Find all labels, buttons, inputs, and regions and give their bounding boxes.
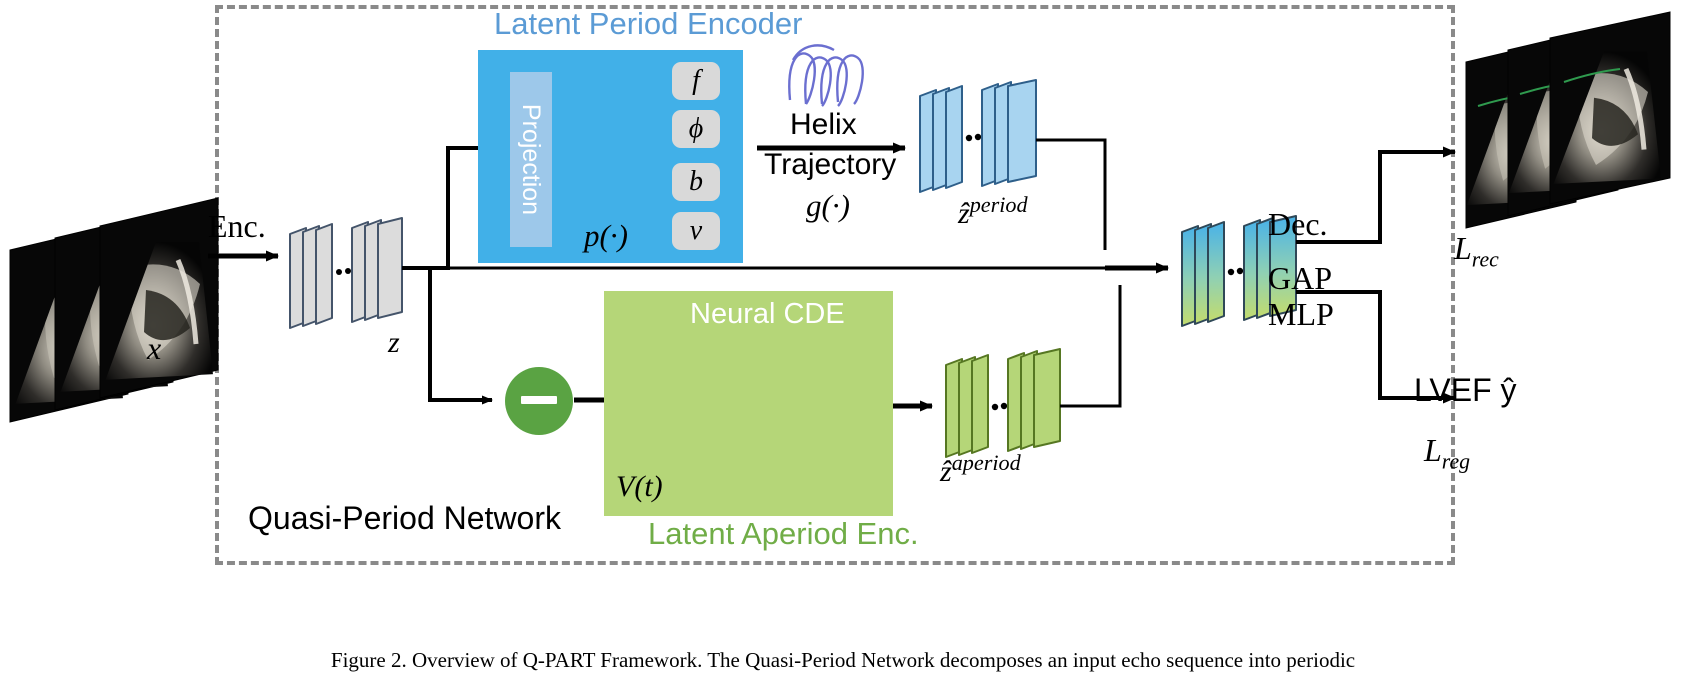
decoder-label: Dec. bbox=[1268, 206, 1328, 243]
mlp-label: MLP bbox=[1268, 296, 1334, 333]
helix-trajectory-label-line1: Helix bbox=[790, 108, 857, 142]
helix-function-label: g(·) bbox=[806, 188, 850, 224]
quasi-period-network-label: Quasi-Period Network bbox=[248, 500, 561, 537]
z-aperiod-base: ẑ bbox=[940, 455, 952, 488]
param-chip-phase: ϕ bbox=[672, 110, 720, 148]
reconstructed-echo-frames bbox=[1464, 12, 1670, 228]
projection-label-wrap: Projection bbox=[510, 72, 552, 247]
minus-icon bbox=[521, 396, 557, 404]
helix-trajectory-label-line2: Trajectory bbox=[764, 148, 896, 182]
reconstruction-loss-label: Lrec bbox=[1454, 230, 1499, 272]
input-echo-frames bbox=[10, 198, 218, 422]
gap-label: GAP bbox=[1268, 260, 1332, 297]
z-aperiod-superscript: aperiod bbox=[952, 450, 1021, 475]
z-period-label: ẑperiod bbox=[958, 192, 1028, 231]
regression-loss-label: Lreg bbox=[1424, 432, 1470, 474]
loss-reg-base: L bbox=[1424, 432, 1442, 468]
latent-period-encoder-title: Latent Period Encoder bbox=[494, 6, 803, 42]
loss-reg-subscript: reg bbox=[1442, 449, 1470, 473]
projection-label: Projection bbox=[517, 104, 546, 215]
param-chip-amplitude: v bbox=[672, 212, 720, 250]
z-period-superscript: period bbox=[970, 192, 1028, 217]
encoder-label: Enc. bbox=[208, 208, 266, 245]
loss-rec-subscript: rec bbox=[1472, 247, 1499, 271]
param-chip-bias: b bbox=[672, 163, 720, 201]
neural-cde-label: Neural CDE bbox=[690, 298, 845, 331]
projection-function-label: p(·) bbox=[584, 218, 628, 254]
loss-rec-base: L bbox=[1454, 230, 1472, 266]
control-path-label: V(t) bbox=[616, 470, 663, 504]
lvef-output-label: LVEF ŷ bbox=[1414, 372, 1517, 409]
figure-canvas: Quasi-Period Network bbox=[0, 0, 1686, 673]
z-aperiod-label: ẑaperiod bbox=[940, 450, 1021, 489]
input-frames-label: x bbox=[147, 330, 161, 367]
figure-caption: Figure 2. Overview of Q-PART Framework. … bbox=[0, 648, 1686, 673]
param-chip-frequency: f bbox=[672, 62, 720, 100]
latent-aperiod-encoder-title: Latent Aperiod Enc. bbox=[648, 516, 919, 552]
latent-z-label: z bbox=[388, 326, 400, 360]
z-period-base: ẑ bbox=[958, 197, 970, 230]
